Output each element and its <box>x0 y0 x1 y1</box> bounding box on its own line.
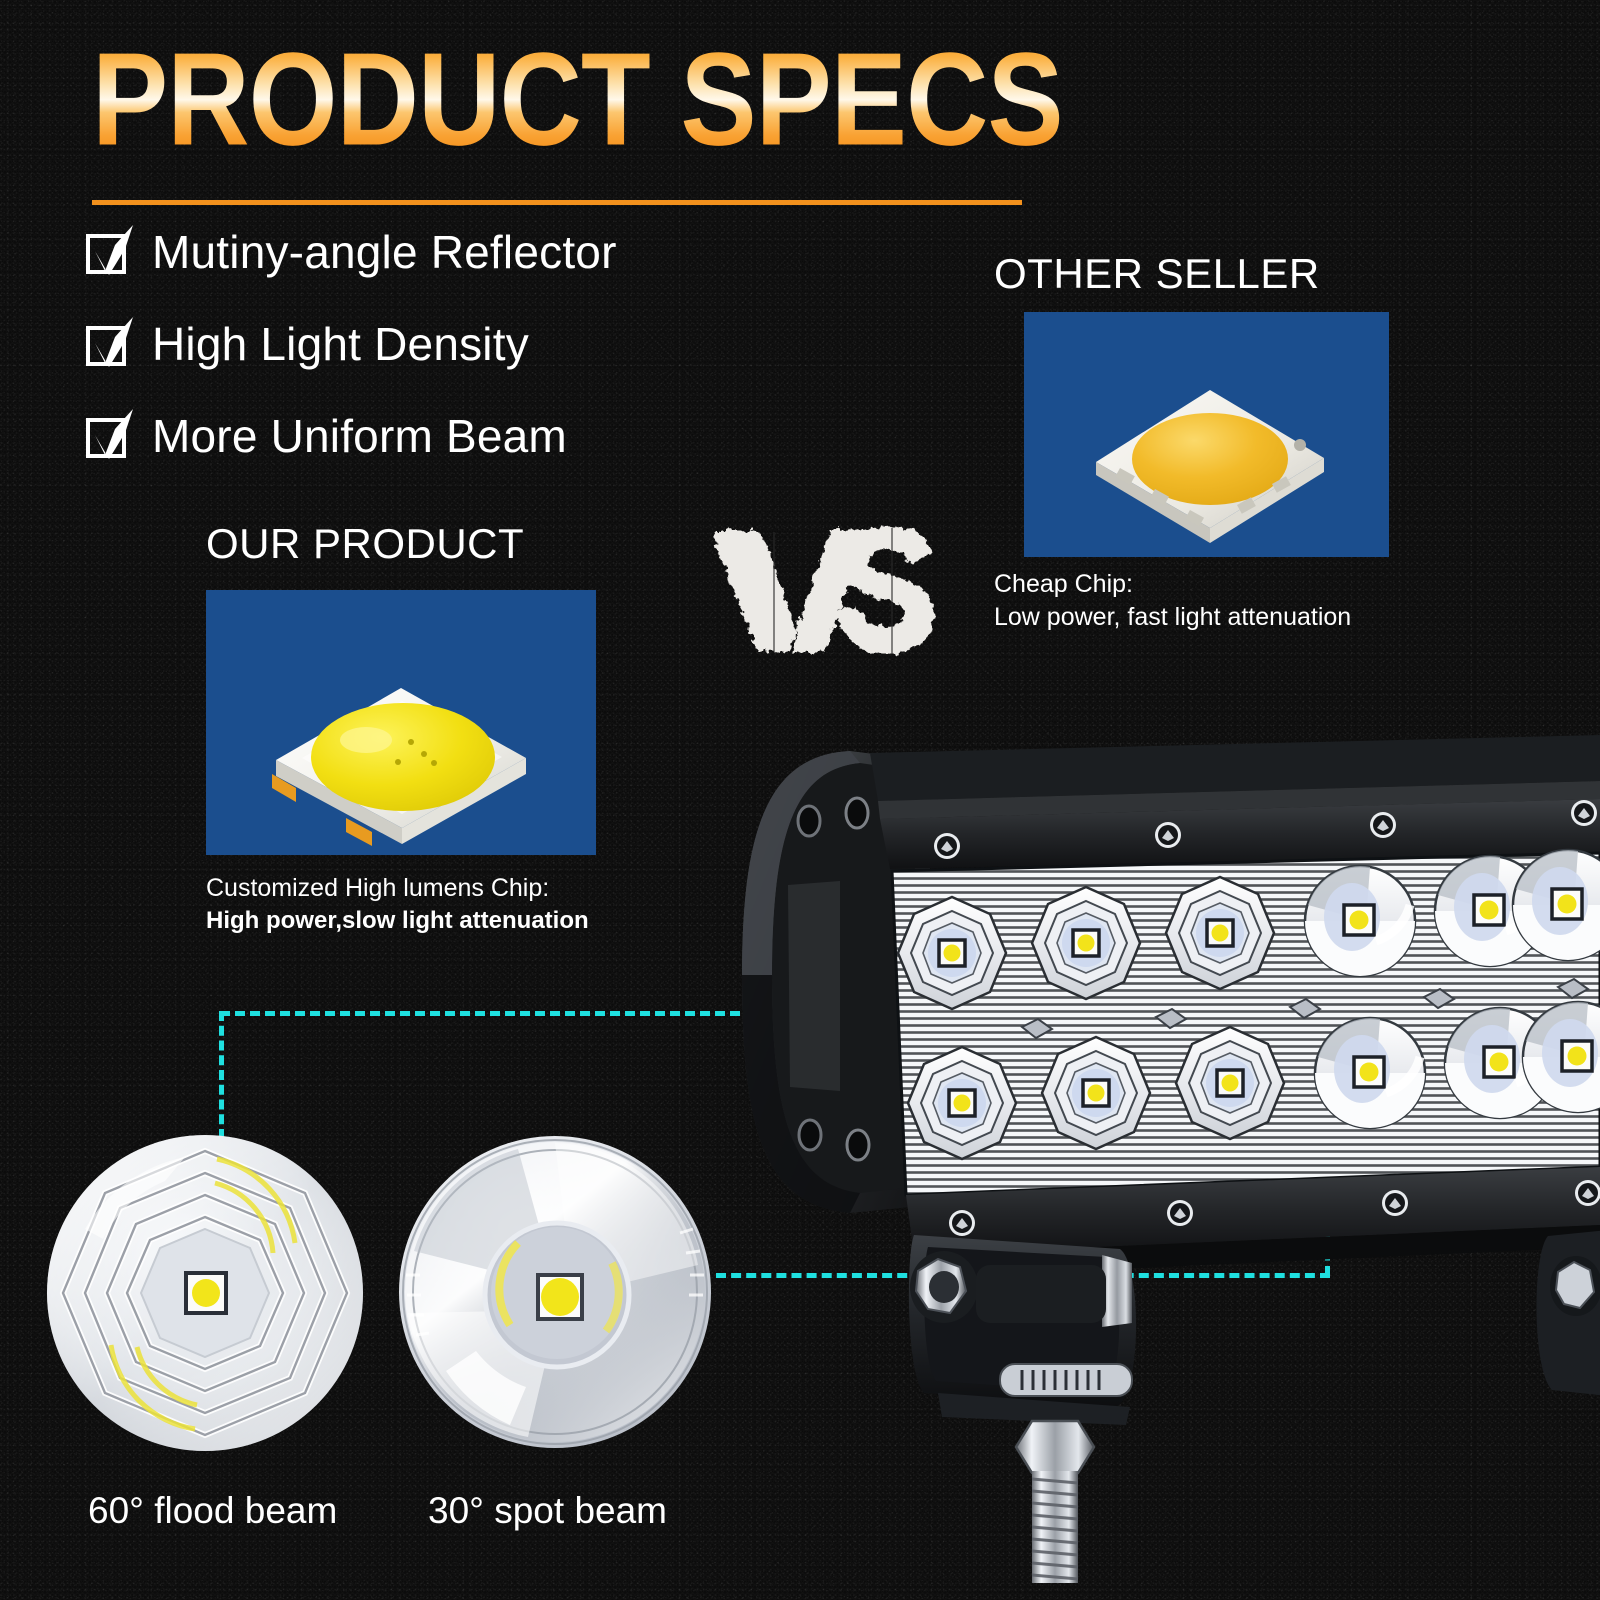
other-seller-heading: OTHER SELLER <box>994 250 1320 298</box>
feature-bullet-list: Mutiny-angle Reflector High Light Densit… <box>86 206 617 482</box>
checkbox-checked-icon <box>86 414 130 458</box>
our-product-chip-photo <box>206 590 596 855</box>
title-underline-rule <box>92 200 1022 205</box>
dual-row-led-light-bar <box>700 735 1600 1295</box>
other-seller-caption: Cheap Chip: Low power, fast light attenu… <box>994 568 1351 634</box>
flood-beam-label: 60° flood beam <box>88 1490 337 1532</box>
other-seller-caption-line2: Low power, fast light attenuation <box>994 601 1351 634</box>
checkbox-checked-icon <box>86 322 130 366</box>
list-item-label: More Uniform Beam <box>152 409 567 463</box>
spot-beam-label: 30° spot beam <box>428 1490 667 1532</box>
list-item: More Uniform Beam <box>86 390 617 482</box>
list-item: High Light Density <box>86 298 617 390</box>
callout-line-flood-vertical <box>219 1011 224 1139</box>
our-product-caption: Customized High lumens Chip: High power,… <box>206 872 589 937</box>
mounting-bracket <box>880 1225 1220 1585</box>
other-seller-chip-photo <box>1024 312 1389 557</box>
our-product-caption-line2: High power,slow light attenuation <box>206 905 589 937</box>
checkbox-checked-icon <box>86 230 130 274</box>
other-seller-caption-line1: Cheap Chip: <box>994 568 1351 601</box>
page-title: PRODUCT SPECS <box>92 36 1112 163</box>
spot-beam-lens-photo <box>398 1135 713 1450</box>
poster-canvas: PRODUCT SPECS Mutiny-angle Reflector Hig… <box>0 0 1600 1600</box>
versus-badge <box>700 512 940 672</box>
list-item-label: High Light Density <box>152 317 529 371</box>
list-item: Mutiny-angle Reflector <box>86 206 617 298</box>
mounting-bracket-secondary <box>1448 1230 1600 1530</box>
list-item-label: Mutiny-angle Reflector <box>152 225 617 279</box>
flood-beam-lens-photo <box>45 1133 365 1453</box>
our-product-heading: OUR PRODUCT <box>206 520 524 568</box>
our-product-caption-line1: Customized High lumens Chip: <box>206 872 589 905</box>
title-block: PRODUCT SPECS <box>92 36 1092 144</box>
